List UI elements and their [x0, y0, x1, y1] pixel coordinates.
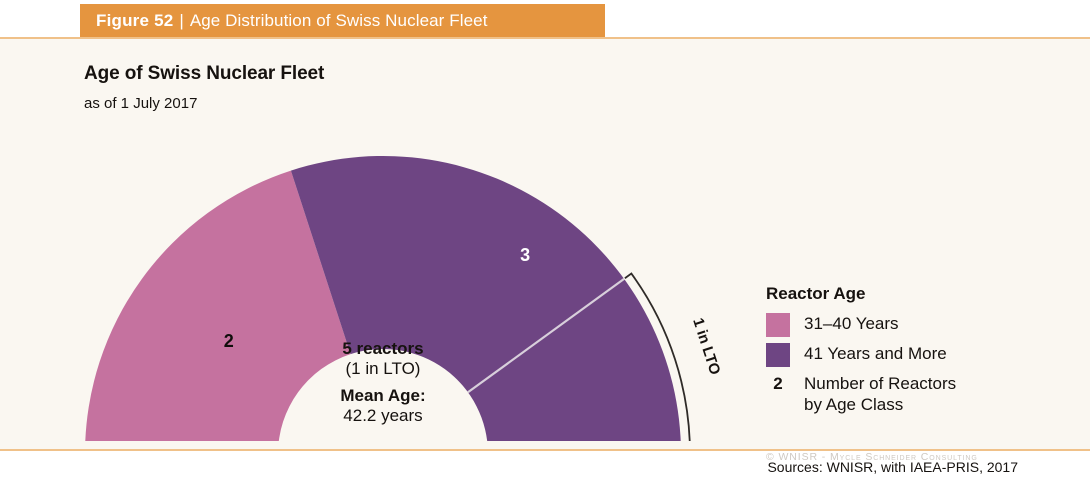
legend-item-31-40-years[interactable]: 31–40 Years [766, 313, 1046, 337]
legend-label-41-plus-years: 41 Years and More [804, 343, 947, 365]
legend-swatch-31-40-years [766, 313, 790, 337]
legend-example-number: 2 [766, 373, 790, 394]
legend-label-number-line1: Number of Reactors [804, 374, 956, 395]
pie-slice-value-31-40: 2 [224, 331, 234, 352]
chart-title: Age of Swiss Nuclear Fleet [84, 63, 324, 85]
legend-item-41-plus-years[interactable]: 41 Years and More [766, 343, 1046, 367]
legend-title: Reactor Age [766, 284, 1046, 304]
center-reactors-count: 5 reactors [283, 339, 483, 359]
center-mean-age-value: 42.2 years [283, 406, 483, 426]
figure-number: Figure 52 [96, 11, 173, 31]
figure-title: Age Distribution of Swiss Nuclear Fleet [190, 11, 488, 31]
donut-center-labels: 5 reactors (1 in LTO) Mean Age: 42.2 yea… [283, 339, 483, 426]
legend: Reactor Age 31–40 Years 41 Years and Mor… [766, 284, 1046, 421]
legend-item-number-of-reactors: 2 Number of Reactors by Age Class [766, 373, 1046, 415]
figure-caption-bar: Figure 52 | Age Distribution of Swiss Nu… [80, 4, 605, 37]
chart-panel: Age of Swiss Nuclear Fleet as of 1 July … [0, 37, 1090, 451]
figure-separator: | [179, 11, 183, 31]
legend-label-31-40-years: 31–40 Years [804, 313, 899, 335]
center-mean-age-label: Mean Age: [283, 386, 483, 406]
center-spacer [283, 379, 483, 386]
center-lto-note: (1 in LTO) [283, 359, 483, 379]
pie-slice-value-41-plus: 3 [520, 245, 530, 266]
sources-note: Sources: WNISR, with IAEA-PRIS, 2017 [0, 459, 1018, 475]
legend-swatch-41-plus-years [766, 343, 790, 367]
legend-label-number-line2: by Age Class [804, 395, 956, 416]
legend-label-number-of-reactors: Number of Reactors by Age Class [804, 373, 956, 415]
